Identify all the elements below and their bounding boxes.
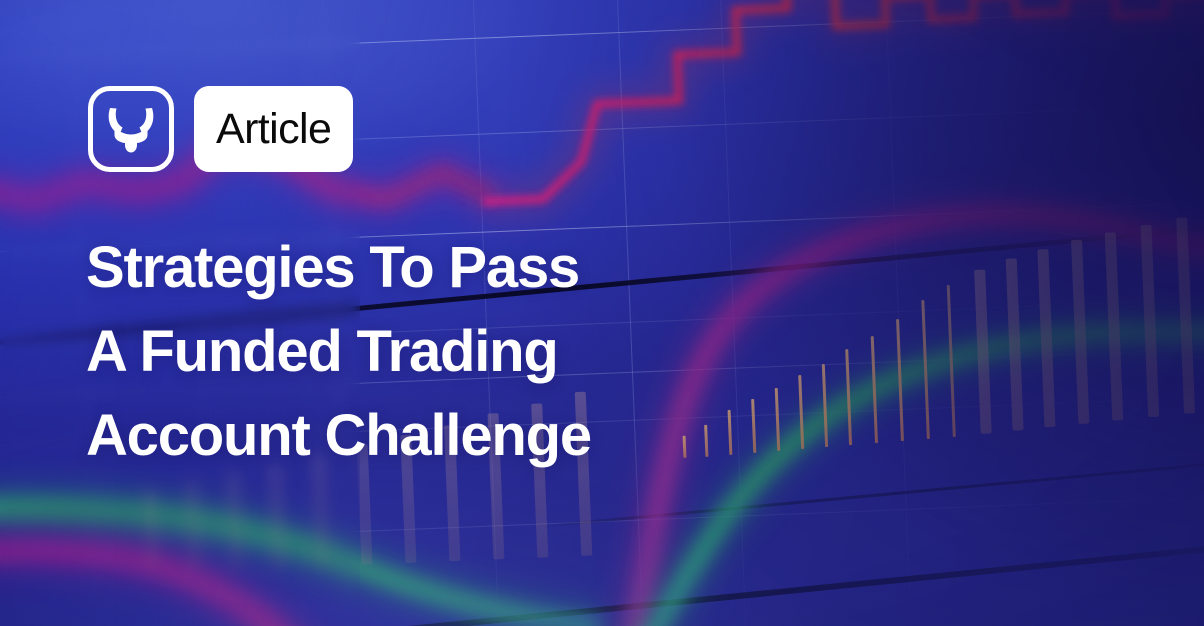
- headline-line-2: A Funded Trading: [86, 310, 786, 394]
- article-badge-label: Article: [216, 108, 331, 151]
- brand-badge-row: Article: [88, 86, 353, 172]
- banner-content: Article Strategies To Pass A Funded Trad…: [0, 0, 1204, 626]
- article-badge[interactable]: Article: [194, 86, 353, 172]
- page-title: Strategies To Pass A Funded Trading Acco…: [86, 226, 786, 478]
- bull-head-icon: [104, 105, 158, 153]
- article-hero-banner: Article Strategies To Pass A Funded Trad…: [0, 0, 1204, 626]
- headline-line-3: Account Challenge: [86, 394, 786, 478]
- logo-tile[interactable]: [88, 86, 174, 172]
- headline-line-1: Strategies To Pass: [86, 226, 786, 310]
